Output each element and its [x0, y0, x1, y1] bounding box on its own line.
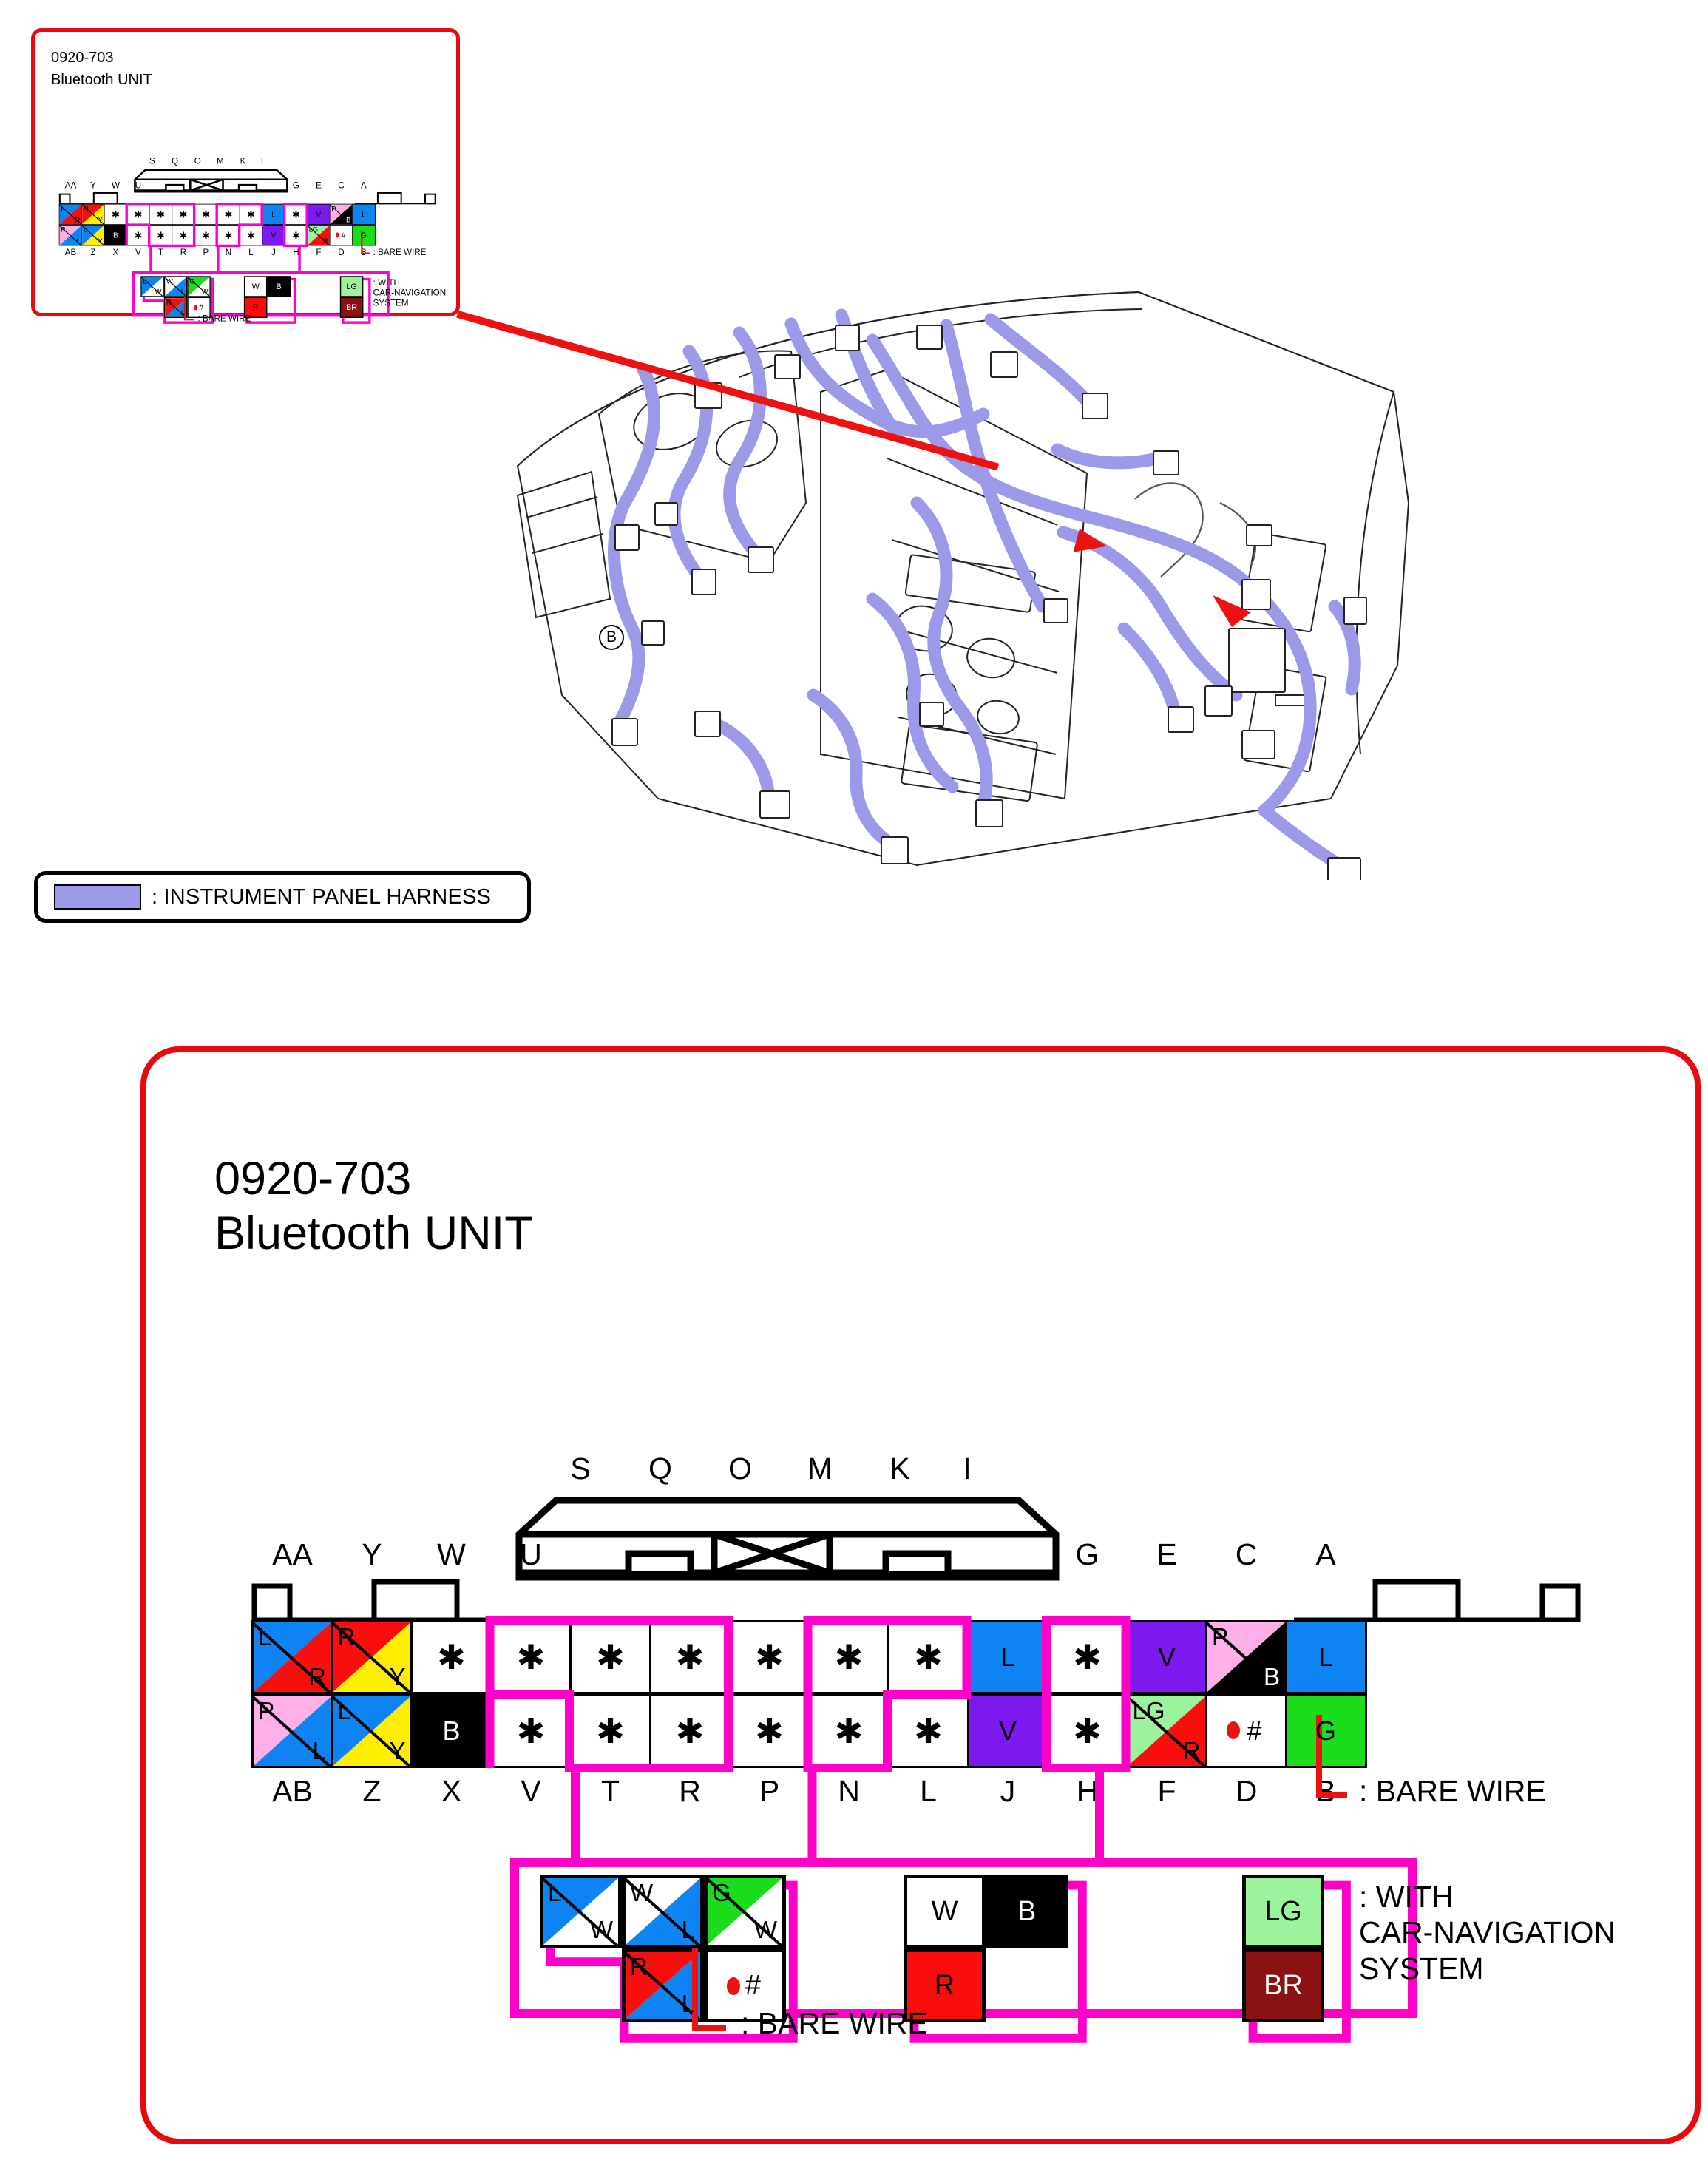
bare-wire-dot: [336, 233, 339, 238]
pin-label-C: C: [338, 180, 344, 190]
pin-label-A: A: [361, 180, 367, 190]
option-cell: LW: [140, 276, 163, 297]
wire-color-label: W: [932, 1896, 958, 1928]
pin-cell-Q: ✱: [649, 1620, 731, 1694]
pin-label-F: F: [316, 248, 321, 257]
pin-row-bottom: PLLYB✱✱✱✱✱✱V✱LGR#G: [59, 225, 376, 245]
pin-cell-I: L: [262, 204, 285, 225]
shell-pin-labels: SQOMKI: [192, 1452, 1641, 1489]
pin-label-D: D: [1236, 1774, 1258, 1809]
pin-cell-Q: ✱: [172, 204, 194, 225]
option-cell: WL: [164, 276, 187, 297]
panel-unit-name: Bluetooth UNIT: [214, 1207, 533, 1262]
pin-cell-R: ✱: [172, 225, 194, 245]
pin-cell-G: ✱: [1046, 1620, 1128, 1694]
pin-cell-W: ✱: [104, 204, 127, 225]
wire-color-label: V: [271, 231, 277, 240]
pin-label-A: A: [1315, 1537, 1335, 1572]
no-wire-star: ✱: [224, 209, 232, 219]
car-navigation-note: : WITHCAR-NAVIGATIONSYSTEM: [373, 277, 446, 308]
bare-wire-label-1: : BARE WIRE: [373, 248, 427, 257]
pin-cell-D: #: [330, 225, 353, 245]
no-wire-star: ✱: [292, 231, 300, 240]
pin-cell-X: B: [410, 1694, 492, 1768]
shell-label-M: M: [807, 1452, 833, 1486]
no-wire-star: ✱: [247, 231, 255, 240]
no-wire-star: ✱: [112, 209, 120, 219]
split-top-label: W: [166, 277, 173, 285]
split-bottom-label: W: [155, 288, 162, 296]
wire-color-label: B: [113, 231, 118, 240]
pin-label-T: T: [601, 1774, 620, 1809]
no-wire-star: ✱: [157, 209, 165, 219]
wire-color-label: R: [935, 1970, 955, 2002]
no-wire-star: ✱: [179, 209, 187, 219]
pin-cell-K: ✱: [240, 204, 262, 225]
bare-wire-mark: #: [199, 303, 203, 312]
pin-label-W: W: [437, 1537, 466, 1572]
no-wire-star: ✱: [134, 209, 142, 219]
split-top-label: L: [61, 205, 64, 213]
wire-color-label: L: [1000, 1642, 1015, 1673]
split-top-label: LG: [309, 226, 318, 234]
pin-label-P: P: [759, 1774, 779, 1809]
pin-cell-Y: RY: [81, 204, 104, 225]
no-wire-star: ✱: [1073, 1714, 1102, 1748]
split-top-label: L: [338, 1697, 351, 1725]
split-top-label: P: [258, 1697, 274, 1725]
split-bottom-label: R: [323, 237, 328, 245]
nav-note-line-3: SYSTEM: [1359, 1951, 1616, 1986]
option-cell: BR: [1242, 1948, 1324, 2022]
shell-label-O: O: [728, 1452, 752, 1486]
bare-wire-mark: #: [745, 1970, 761, 2002]
shell-label-S: S: [570, 1452, 590, 1486]
bare-wire-callout-pin-d: [1294, 1715, 1604, 1826]
option-cell: BR: [340, 297, 363, 318]
split-bottom-label: L: [76, 237, 80, 245]
split-bottom-label: W: [590, 1916, 613, 1944]
bare-wire-label-1: : BARE WIRE: [1359, 1774, 1546, 1809]
pin-cell-U: ✱: [126, 204, 149, 225]
connector-retainer-tabs: [192, 1574, 1641, 1622]
pin-cell-J: V: [262, 225, 285, 245]
wire-color-label: V: [316, 210, 322, 219]
wire-color-label: B: [277, 282, 282, 291]
split-top-label: G: [189, 277, 194, 285]
no-wire-star: ✱: [755, 1640, 784, 1674]
pin-label-AA: AA: [272, 1537, 313, 1572]
option-cell: GW: [704, 1875, 786, 1948]
split-bottom-label: Y: [389, 1737, 405, 1765]
pin-label-W: W: [112, 180, 120, 190]
bare-wire-callout-pin-d: [355, 231, 443, 263]
split-top-label: L: [84, 226, 87, 234]
pin-cell-M: ✱: [808, 1620, 890, 1694]
pin-cell-A: L: [1285, 1620, 1367, 1694]
pin-label-V: V: [521, 1774, 540, 1809]
split-bottom-label: Y: [389, 1663, 405, 1691]
pin-label-P: P: [203, 248, 209, 257]
pin-cell-V: ✱: [490, 1694, 572, 1768]
pin-label-AB: AB: [65, 248, 77, 257]
inset-part-number: 0920-703: [51, 47, 152, 69]
pin-label-H: H: [293, 248, 299, 257]
harness-legend: : INSTRUMENT PANEL HARNESS: [34, 871, 531, 923]
shell-label-O: O: [194, 156, 201, 166]
pin-label-AB: AB: [272, 1774, 313, 1809]
wire-color-label: B: [442, 1716, 460, 1747]
no-wire-star: ✱: [596, 1714, 625, 1748]
shell-label-I: I: [963, 1452, 971, 1486]
split-top-label: P: [1212, 1623, 1228, 1651]
option-cell: B: [986, 1875, 1068, 1948]
no-wire-star: ✱: [517, 1640, 546, 1674]
top-pin-labels: AAYWUGECA: [192, 1537, 1641, 1577]
panel-title: 0920-703 Bluetooth UNIT: [214, 1152, 533, 1261]
pin-label-N: N: [226, 248, 231, 257]
pin-label-U: U: [520, 1537, 542, 1572]
option-cell: LG: [1242, 1875, 1324, 1948]
pin-cell-AA: LR: [251, 1620, 333, 1694]
top-pin-labels: AAYWUGECA: [42, 180, 453, 192]
split-top-label: R: [630, 1953, 648, 1981]
pin-cell-AB: PL: [251, 1694, 333, 1768]
option-group-2: WBR: [244, 276, 328, 324]
pin-cell-Y: RY: [331, 1620, 413, 1694]
option-cell: LG: [340, 276, 363, 297]
nav-note-line-3: SYSTEM: [373, 297, 446, 308]
option-cell: W: [244, 276, 267, 297]
inset-unit-name: Bluetooth UNIT: [51, 69, 152, 91]
pin-cell-O: ✱: [728, 1620, 810, 1694]
shell-label-M: M: [217, 156, 224, 166]
pin-cell-T: ✱: [569, 1694, 651, 1768]
no-wire-star: ✱: [835, 1640, 864, 1674]
nav-note-line-1: : WITH: [1359, 1879, 1616, 1914]
pin-label-AA: AA: [65, 180, 77, 190]
no-wire-star: ✱: [517, 1714, 546, 1748]
option-cell: WL: [622, 1875, 704, 1948]
bare-wire-dot: [1227, 1721, 1240, 1739]
split-bottom-label: B: [346, 216, 350, 224]
pin-cell-N: ✱: [217, 225, 240, 245]
pin-grid: LRRY✱✱✱✱✱✱✱L✱VPBLPLLYB✱✱✱✱✱✱V✱LGR#G: [59, 204, 376, 246]
harness-legend-label: : INSTRUMENT PANEL HARNESS: [152, 885, 491, 910]
pin-label-H: H: [1077, 1774, 1099, 1809]
split-top-label: W: [630, 1879, 653, 1907]
split-top-label: LG: [1133, 1697, 1165, 1725]
option-cell: B: [267, 276, 290, 297]
inset-callout-box: 0920-703 Bluetooth UNIT SQOMKIAAYWUGECAL…: [31, 28, 460, 316]
no-wire-star: ✱: [676, 1714, 705, 1748]
shell-label-Q: Q: [172, 156, 178, 166]
bare-wire-dot: [727, 1977, 740, 1995]
pin-cell-T: ✱: [149, 225, 172, 245]
option-cell: GW: [187, 276, 210, 297]
no-wire-star: ✱: [914, 1714, 943, 1748]
pin-label-Y: Y: [362, 1537, 382, 1572]
no-wire-star: ✱: [835, 1714, 864, 1748]
instrument-panel-illustration: [473, 281, 1427, 880]
pin-cell-F: LGR: [1126, 1694, 1208, 1768]
pin-label-E: E: [1156, 1537, 1176, 1572]
no-wire-star: ✱: [914, 1640, 943, 1674]
harness-color-swatch: [54, 884, 141, 910]
pin-label-L: L: [920, 1774, 937, 1809]
pin-grid: LRRY✱✱✱✱✱✱✱L✱VPBLPLLYB✱✱✱✱✱✱V✱LGR#G: [251, 1620, 1368, 1768]
split-bottom-label: W: [202, 288, 209, 296]
pin-cell-S: ✱: [569, 1620, 651, 1694]
pin-row-top: LRRY✱✱✱✱✱✱✱L✱VPBL: [251, 1620, 1368, 1694]
pin-label-X: X: [113, 248, 119, 257]
wire-color-label: W: [252, 282, 260, 291]
pin-cell-O: ✱: [194, 204, 217, 225]
split-top-label: P: [61, 226, 65, 234]
pin-cell-H: ✱: [1046, 1694, 1128, 1768]
pin-cell-Z: LY: [331, 1694, 413, 1768]
wire-color-label: V: [1158, 1642, 1176, 1673]
pin-label-Y: Y: [90, 180, 96, 190]
pin-cell-C: PB: [330, 204, 353, 225]
pin-label-Z: Z: [90, 248, 95, 257]
panel-part-number: 0920-703: [214, 1152, 533, 1207]
split-top-label: L: [258, 1623, 271, 1651]
split-bottom-label: L: [682, 1916, 695, 1944]
split-bottom-label: B: [1264, 1663, 1280, 1691]
pin-cell-I: L: [967, 1620, 1049, 1694]
shell-pin-labels: SQOMKI: [42, 156, 453, 166]
no-wire-star: ✱: [134, 231, 142, 240]
wire-color-label: BR: [1264, 1970, 1303, 2002]
dashboard-ref-marker: B: [599, 625, 624, 650]
split-top-label: L: [548, 1879, 561, 1907]
wire-color-label: LG: [1264, 1896, 1302, 1928]
no-wire-star: ✱: [1073, 1640, 1102, 1674]
bare-wire-label-2: : BARE WIRE: [198, 314, 251, 323]
no-wire-star: ✱: [292, 209, 300, 219]
inset-connector-diagram: SQOMKIAAYWUGECALRRY✱✱✱✱✱✱✱L✱VPBLPLLYB✱✱✱…: [42, 156, 456, 315]
wire-color-label: L: [362, 210, 366, 219]
pin-label-J: J: [1000, 1774, 1016, 1809]
pin-cell-U: ✱: [490, 1620, 572, 1694]
pin-cell-P: ✱: [728, 1694, 810, 1768]
connector-retainer-tabs: [42, 191, 453, 204]
inset-title: 0920-703 Bluetooth UNIT: [51, 47, 152, 91]
shell-label-K: K: [240, 156, 246, 166]
no-wire-star: ✱: [224, 231, 232, 240]
no-wire-star: ✱: [596, 1640, 625, 1674]
pin-label-Z: Z: [362, 1774, 381, 1809]
wire-color-label: R: [253, 303, 259, 312]
split-bottom-label: R: [1183, 1737, 1201, 1765]
no-wire-star: ✱: [755, 1714, 784, 1748]
wire-color-label: BR: [346, 303, 357, 312]
pin-label-X: X: [441, 1774, 461, 1809]
split-top-label: R: [166, 298, 172, 306]
wire-color-label: V: [999, 1716, 1017, 1747]
no-wire-star: ✱: [676, 1640, 705, 1674]
pin-label-J: J: [271, 248, 276, 257]
wire-color-label: G: [361, 231, 367, 240]
split-top-label: R: [338, 1623, 356, 1651]
split-bottom-label: R: [308, 1663, 326, 1691]
wire-color-label: L: [271, 210, 276, 219]
split-bottom-label: L: [313, 1737, 326, 1765]
pin-label-E: E: [316, 180, 322, 190]
connector-diagram: SQOMKIAAYWUGECALRRY✱✱✱✱✱✱✱L✱VPBLPLLYB✱✱✱…: [192, 1452, 1641, 2028]
nav-note-line-1: : WITH: [373, 277, 446, 288]
pin-label-D: D: [338, 248, 344, 257]
pin-cell-N: ✱: [808, 1694, 890, 1768]
option-group-2: WBR: [904, 1875, 1199, 2045]
split-top-label: R: [84, 205, 89, 213]
pin-cell-P: ✱: [194, 225, 217, 245]
pin-label-V: V: [135, 248, 141, 257]
wire-color-label: L: [1318, 1642, 1333, 1673]
bare-wire-mark: #: [1247, 1716, 1261, 1747]
pin-cell-AB: PL: [59, 225, 82, 245]
pin-cell-L: ✱: [887, 1694, 969, 1768]
option-cell: W: [904, 1875, 986, 1948]
pin-label-L: L: [248, 248, 253, 257]
pin-cell-J: V: [967, 1694, 1049, 1768]
split-bottom-label: L: [181, 288, 185, 296]
split-bottom-label: L: [682, 1990, 695, 2018]
nav-note-line-2: CAR-NAVIGATION: [1359, 1914, 1616, 1950]
no-wire-star: ✱: [202, 209, 210, 219]
option-cell: LW: [540, 1875, 622, 1948]
split-bottom-label: L: [181, 309, 185, 317]
pin-cell-R: ✱: [649, 1694, 731, 1768]
pin-cell-X: B: [104, 225, 127, 245]
pin-cell-C: PB: [1205, 1620, 1287, 1694]
pin-cell-Z: LY: [81, 225, 104, 245]
pin-cell-W: ✱: [410, 1620, 492, 1694]
split-bottom-label: W: [754, 1916, 777, 1944]
split-top-label: G: [712, 1879, 731, 1907]
shell-label-I: I: [261, 156, 263, 166]
shell-label-Q: Q: [648, 1452, 672, 1486]
bare-wire-label-2: : BARE WIRE: [741, 2006, 928, 2041]
split-top-label: L: [143, 277, 146, 285]
pin-cell-D: #: [1205, 1694, 1287, 1768]
pin-label-G: G: [293, 180, 299, 190]
pin-label-F: F: [1157, 1774, 1176, 1809]
pin-label-C: C: [1236, 1537, 1258, 1572]
wire-color-label: B: [1017, 1896, 1036, 1928]
connector-diagram: SQOMKIAAYWUGECALRRY✱✱✱✱✱✱✱L✱VPBLPLLYB✱✱✱…: [42, 156, 453, 319]
shell-label-S: S: [149, 156, 155, 166]
pin-cell-E: V: [1126, 1620, 1208, 1694]
pin-label-R: R: [679, 1774, 701, 1809]
split-bottom-label: R: [75, 216, 81, 224]
pin-label-R: R: [180, 248, 186, 257]
pin-label-T: T: [158, 248, 163, 257]
split-bottom-label: Y: [98, 216, 103, 224]
split-bottom-label: Y: [98, 237, 103, 245]
pin-cell-H: ✱: [285, 225, 308, 245]
wire-color-label: G: [1315, 1716, 1336, 1747]
no-wire-star: ✱: [247, 209, 255, 219]
pin-cell-A: L: [352, 204, 375, 225]
pin-cell-K: ✱: [887, 1620, 969, 1694]
pin-cell-G: ✱: [285, 204, 308, 225]
pin-cell-V: ✱: [126, 225, 149, 245]
no-wire-star: ✱: [437, 1640, 466, 1674]
shell-label-K: K: [889, 1452, 909, 1486]
no-wire-star: ✱: [179, 231, 187, 240]
no-wire-star: ✱: [202, 231, 210, 240]
pin-label-G: G: [1076, 1537, 1099, 1572]
no-wire-star: ✱: [157, 231, 165, 240]
pin-cell-E: V: [307, 204, 330, 225]
pin-cell-L: ✱: [240, 225, 262, 245]
detail-panel: 0920-703 Bluetooth UNIT SQOMKIAAYWUGECAL…: [140, 1046, 1701, 2144]
split-top-label: P: [331, 205, 336, 213]
wire-color-label: LG: [346, 282, 356, 291]
pin-row-top: LRRY✱✱✱✱✱✱✱L✱VPBL: [59, 204, 376, 225]
pin-cell-M: ✱: [217, 204, 240, 225]
car-navigation-note: : WITHCAR-NAVIGATIONSYSTEM: [1359, 1879, 1616, 1986]
bare-wire-dot: [194, 305, 197, 311]
pin-cell-F: LGR: [307, 225, 330, 245]
nav-note-line-2: CAR-NAVIGATION: [373, 288, 446, 298]
pin-label-N: N: [838, 1774, 860, 1809]
pin-cell-S: ✱: [149, 204, 172, 225]
bare-wire-mark: #: [342, 231, 346, 240]
pin-row-bottom: PLLYB✱✱✱✱✱✱V✱LGR#G: [251, 1694, 1368, 1768]
pin-label-U: U: [135, 180, 141, 190]
pin-cell-AA: LR: [59, 204, 82, 225]
